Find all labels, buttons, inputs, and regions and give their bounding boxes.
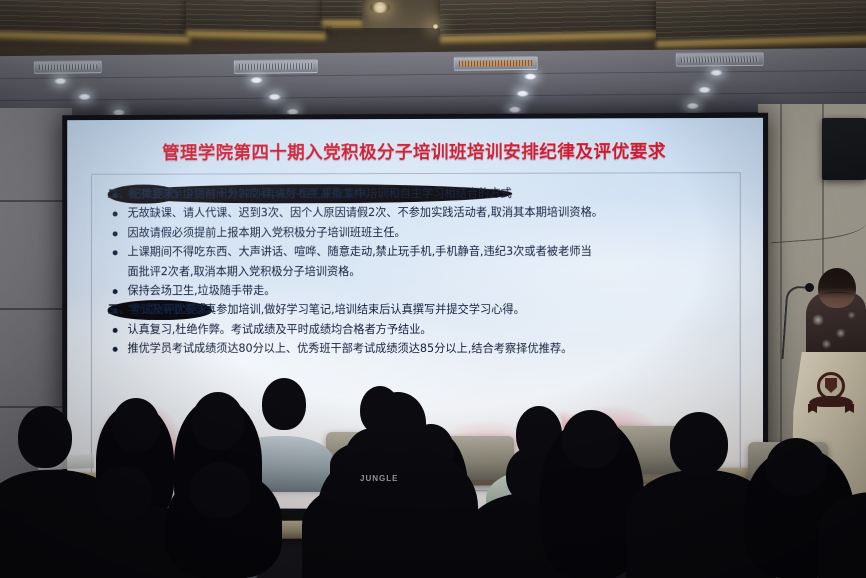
ceiling-cove-panel <box>0 0 190 38</box>
slide-line: 无故缺课、请人代课、迟到3次、因个人原因请假2次、不参加实践活动者,取消其本期培… <box>108 203 724 223</box>
slide-title: 管理学院第四十期入党积极分子培训班培训安排纪律及评优要求 <box>67 138 763 165</box>
air-vent <box>454 56 538 71</box>
ceiling-cove-panel <box>656 0 866 43</box>
slide-line: 上课期间不得吃东西、大声讲话、喧哗、随意走动,禁止玩手机,手机静音,违纪3次或者… <box>108 242 724 262</box>
slide-line: 因故请假必须提前上报本期入党积极分子培训班班主任。 <box>108 222 724 242</box>
ceiling-downlight <box>698 86 711 93</box>
ceiling-downlight <box>508 106 521 113</box>
presenter-head <box>818 268 856 308</box>
ceiling-spotlight <box>370 2 390 13</box>
ceiling-downlight <box>710 69 723 76</box>
ceiling-cove-panel <box>322 0 362 22</box>
wall-loudspeaker <box>822 118 866 180</box>
air-vent <box>234 59 318 74</box>
slide-line: 认真复习,杜绝作弊。考试成绩及平时成绩均合格者方予结业。 <box>108 320 724 340</box>
glasses-icon <box>822 292 852 299</box>
slide-line: 保持会场卫生,垃圾随手带走。 <box>108 281 724 301</box>
slide-line: 每次上课至少提前十分钟到课,做好相关准备工作。 <box>108 183 724 204</box>
slide-line: 学员按照要求认真参加培训,做好学习笔记,培训结束后认真撰写并提交学习心得。 <box>108 300 724 320</box>
ceiling-spotlight <box>432 24 439 29</box>
ceiling-downlight <box>516 90 529 97</box>
ceiling-downlight <box>54 78 67 85</box>
ceiling-downlight <box>524 73 537 80</box>
ceiling-cove-panel <box>186 0 326 35</box>
slide-line: 推优学员考试成绩须达80分以上、优秀班干部考试成绩须达85分以上,结合考察择优推… <box>108 339 724 359</box>
air-vent <box>676 52 764 67</box>
ceiling-downlight <box>686 102 699 109</box>
ceiling-downlight <box>268 93 281 100</box>
ceiling-cove-panel <box>440 0 660 38</box>
lecture-hall-photo: 管理学院第四十期入党积极分子培训班培训安排纪律及评优要求 一、培训安排: 培训时… <box>0 0 866 578</box>
microphone-icon <box>805 283 814 292</box>
shirt-text: JUNGLE <box>360 474 398 483</box>
slide-line: 面批评2次者,取消本期入党积极分子培训资格。 <box>108 261 724 281</box>
university-crest-icon <box>808 372 854 420</box>
ceiling-downlight <box>250 77 263 84</box>
air-vent <box>34 60 102 74</box>
